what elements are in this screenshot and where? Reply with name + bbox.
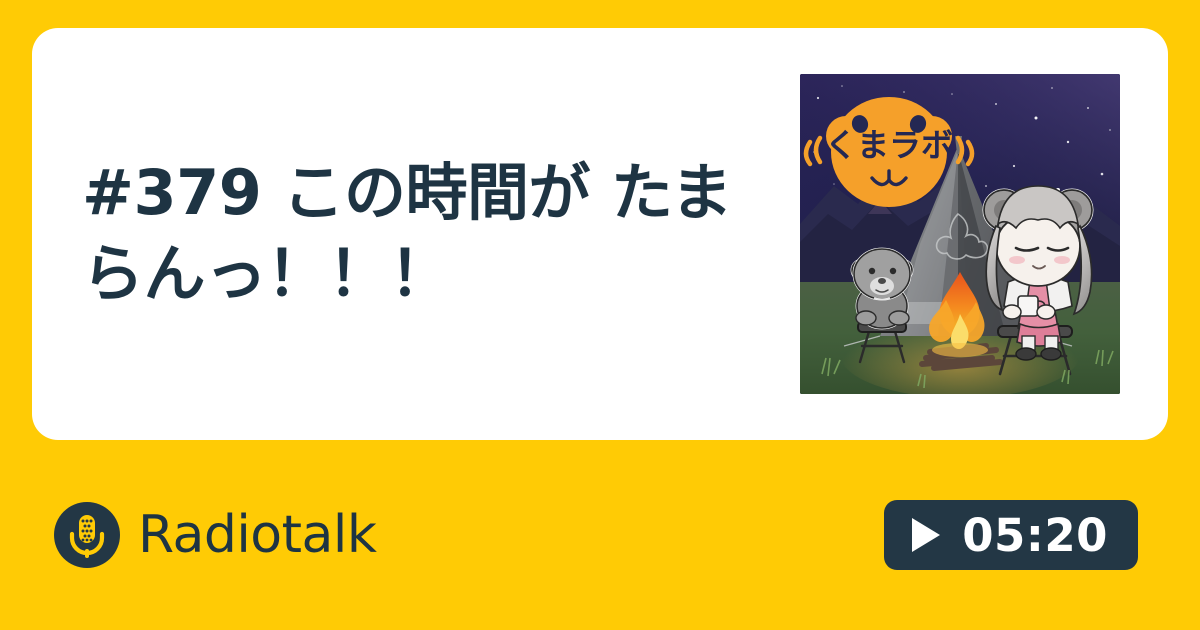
footer-bar: Radiotalk 05:20: [0, 440, 1200, 630]
play-icon: [912, 518, 940, 552]
episode-title: #379 この時間が たまらんっ！！！: [82, 153, 782, 314]
play-duration-badge[interactable]: 05:20: [884, 500, 1138, 570]
episode-title-wrap: #379 この時間が たまらんっ！！！: [32, 153, 800, 314]
brand-name: Radiotalk: [138, 509, 376, 561]
radiotalk-brand[interactable]: Radiotalk: [32, 502, 376, 568]
logo-name-text: くまラボ: [825, 126, 953, 164]
episode-thumbnail: 女子キャンパー くまラボ: [800, 74, 1120, 394]
thumbnail-artwork: 女子キャンパー くまラボ: [800, 74, 1120, 394]
duration-label: 05:20: [962, 513, 1108, 558]
episode-card: #379 この時間が たまらんっ！！！: [32, 28, 1168, 440]
radiotalk-og-card: #379 この時間が たまらんっ！！！: [0, 0, 1200, 630]
microphone-icon: [54, 502, 120, 568]
